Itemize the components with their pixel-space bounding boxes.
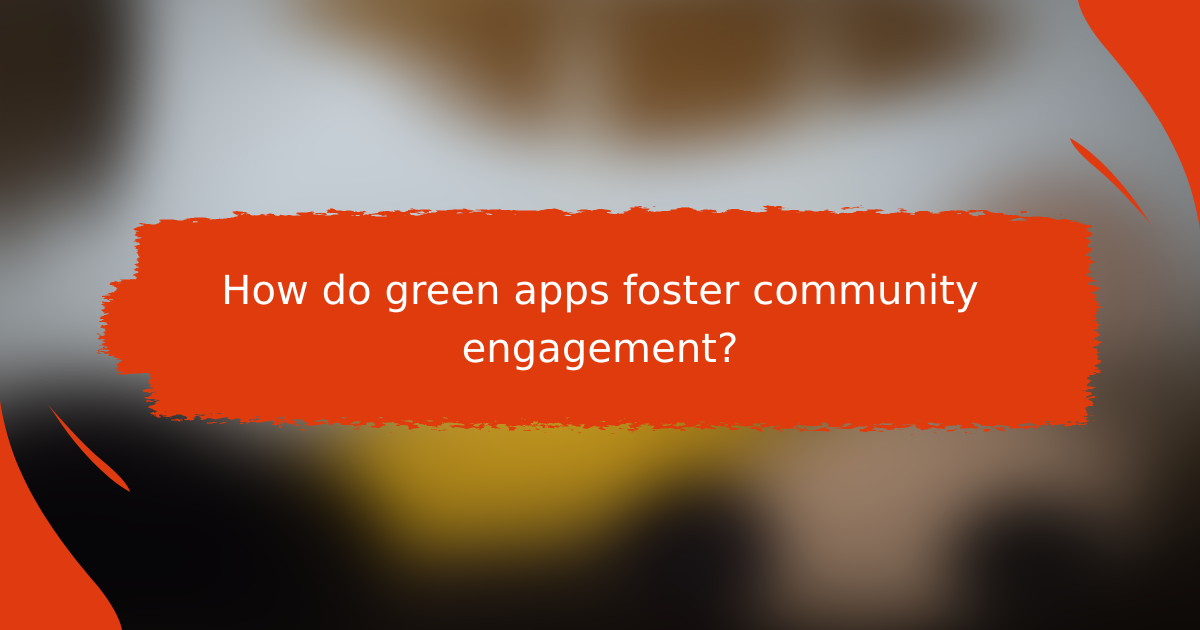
social-share-card: How do green apps foster community engag… — [0, 0, 1200, 630]
headline-text: How do green apps foster community engag… — [180, 262, 1020, 379]
